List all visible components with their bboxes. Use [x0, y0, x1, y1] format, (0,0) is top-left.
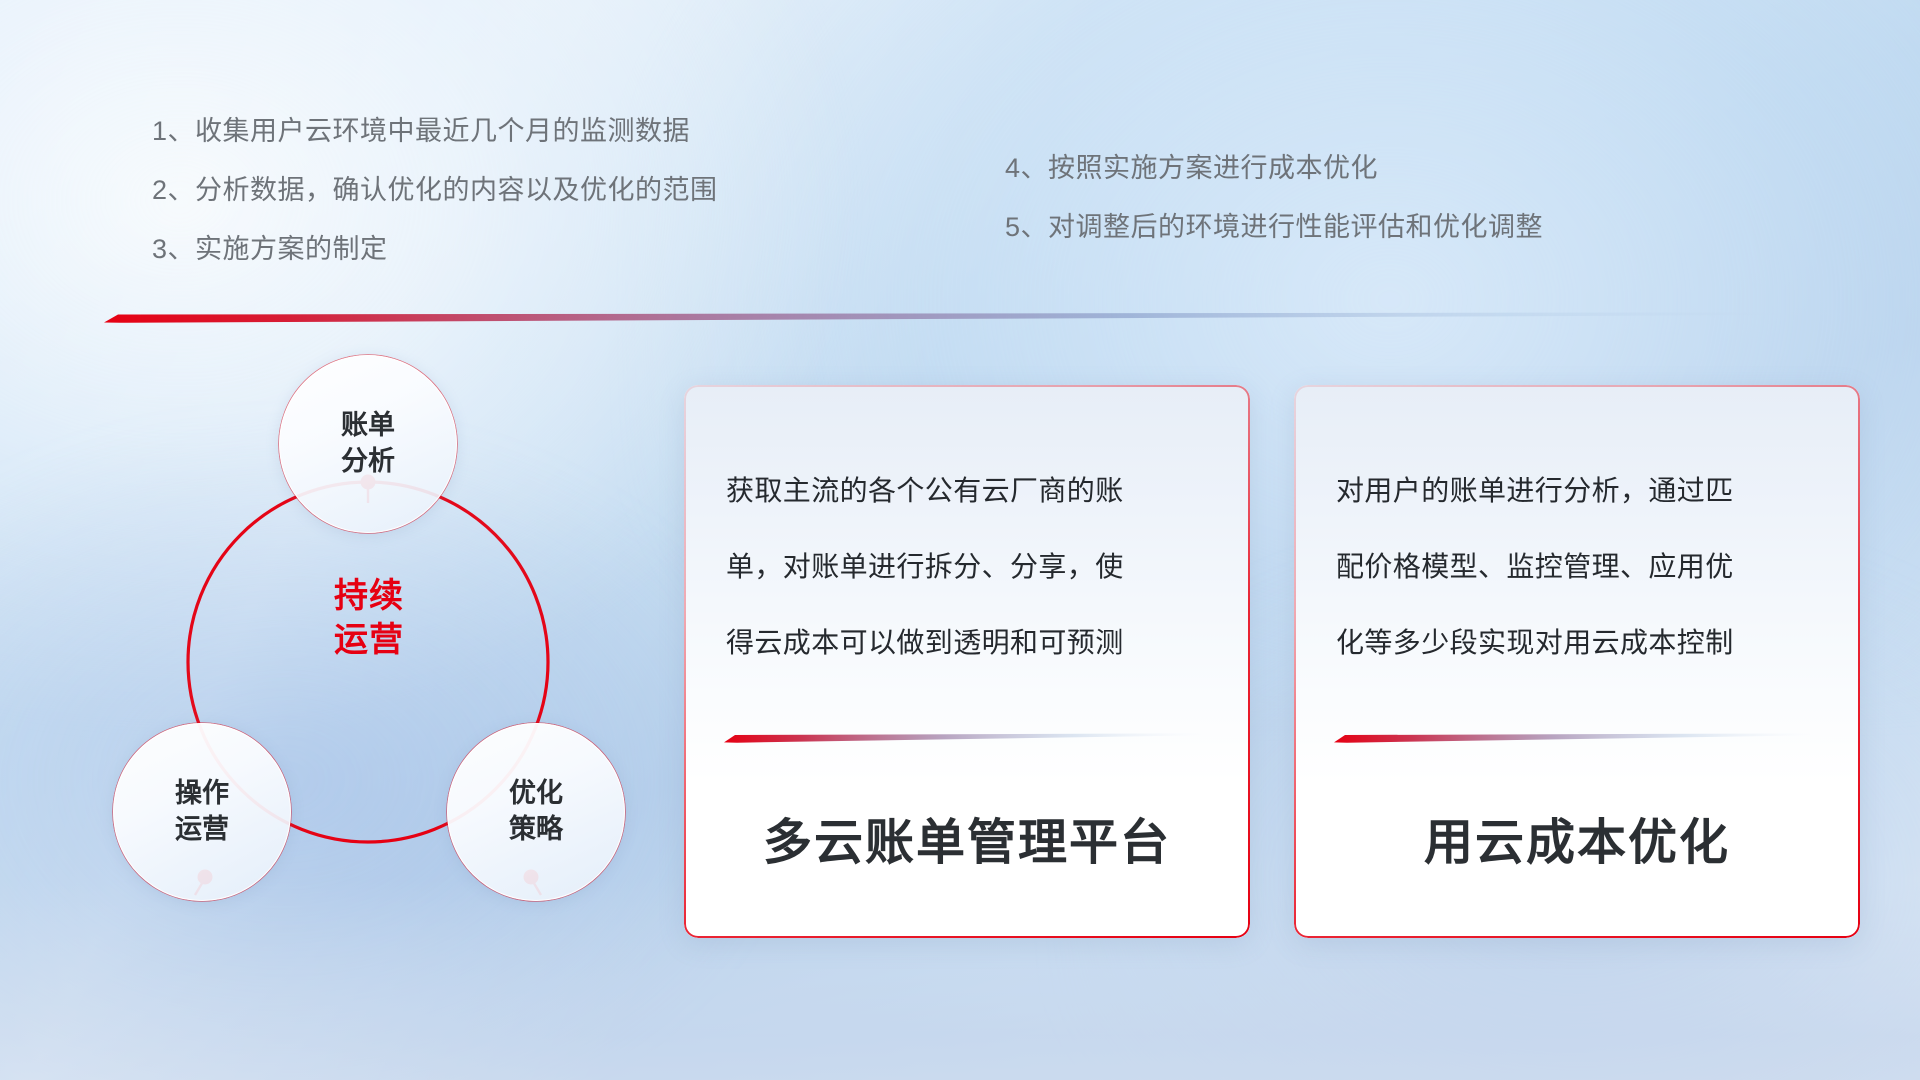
node-label-line1: 账单 — [341, 408, 395, 444]
card-body-line: 得云成本可以做到透明和可预测 — [726, 605, 1210, 681]
center-label-line1: 持续 — [281, 575, 457, 619]
card-body-line: 配价格模型、监控管理、应用优 — [1336, 529, 1820, 605]
node-label-line1: 优化 — [509, 776, 563, 812]
step-item-2: 2、分析数据，确认优化的内容以及优化的范围 — [152, 177, 718, 204]
card-body-line: 获取主流的各个公有云厂商的账 — [726, 453, 1210, 529]
step-item-3: 3、实施方案的制定 — [152, 236, 718, 263]
node-label-line2: 运营 — [175, 812, 229, 848]
diagram-center-label: 持续 运营 — [281, 575, 457, 662]
card-title: 多云账单管理平台 — [684, 803, 1250, 874]
diagram-node-strategy[interactable]: 优化 策略 — [447, 723, 625, 901]
card-body-text: 获取主流的各个公有云厂商的账 单，对账单进行拆分、分享，使 得云成本可以做到透明… — [726, 453, 1210, 681]
node-label-line2: 策略 — [509, 812, 563, 848]
card-body-line: 单，对账单进行拆分、分享，使 — [726, 529, 1210, 605]
diagram-node-billing-analysis[interactable]: 账单 分析 — [279, 355, 457, 533]
card-title: 用云成本优化 — [1294, 803, 1860, 874]
card-accent-rule — [724, 733, 1210, 743]
step-list-right: 4、按照实施方案进行成本优化 5、对调整后的环境进行性能评估和优化调整 — [1005, 155, 1543, 273]
step-list-left: 1、收集用户云环境中最近几个月的监测数据 2、分析数据，确认优化的内容以及优化的… — [152, 118, 718, 295]
card-body-line: 对用户的账单进行分析，通过匹 — [1336, 453, 1820, 529]
node-label-line2: 分析 — [341, 444, 395, 480]
section-divider — [104, 312, 1864, 323]
card-body-text: 对用户的账单进行分析，通过匹 配价格模型、监控管理、应用优 化等多少段实现对用云… — [1336, 453, 1820, 681]
step-item-4: 4、按照实施方案进行成本优化 — [1005, 155, 1543, 182]
diagram-node-operations[interactable]: 操作 运营 — [113, 723, 291, 901]
slide-canvas: 1、收集用户云环境中最近几个月的监测数据 2、分析数据，确认优化的内容以及优化的… — [0, 0, 1920, 1080]
step-item-5: 5、对调整后的环境进行性能评估和优化调整 — [1005, 214, 1543, 241]
feature-card-cloud-cost-optimization[interactable]: 对用户的账单进行分析，通过匹 配价格模型、监控管理、应用优 化等多少段实现对用云… — [1294, 385, 1860, 938]
node-label-line1: 操作 — [175, 776, 229, 812]
card-accent-rule — [1334, 733, 1820, 743]
feature-card-multi-cloud-billing-platform[interactable]: 获取主流的各个公有云厂商的账 单，对账单进行拆分、分享，使 得云成本可以做到透明… — [684, 385, 1250, 938]
card-body-line: 化等多少段实现对用云成本控制 — [1336, 605, 1820, 681]
continuous-operations-diagram: 账单 分析 操作 运营 优化 策略 持续 运营 — [95, 355, 635, 945]
center-label-line2: 运营 — [281, 619, 457, 663]
step-item-1: 1、收集用户云环境中最近几个月的监测数据 — [152, 118, 718, 145]
